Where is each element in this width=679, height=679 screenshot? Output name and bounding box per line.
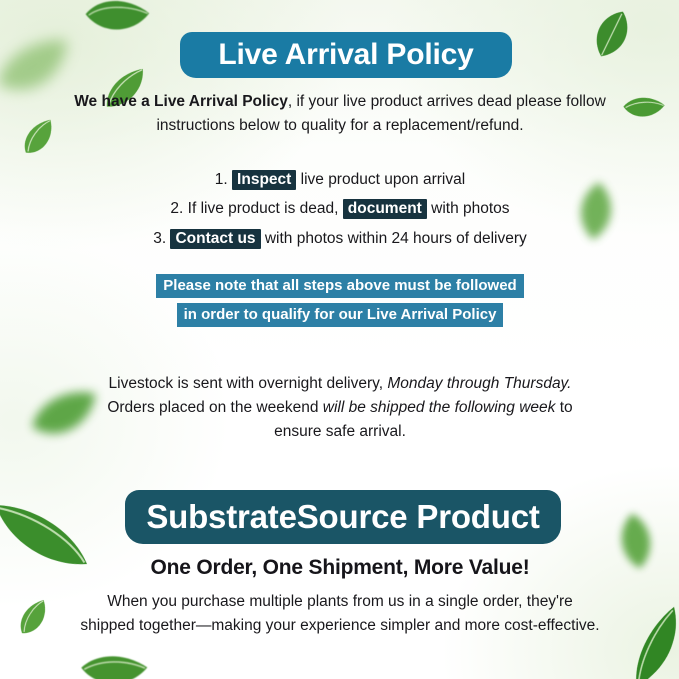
shipping-line1-plain: Livestock is sent with overnight deliver… (109, 375, 384, 392)
policy-steps-list: 1. Inspect live product upon arrival 2. … (70, 165, 610, 253)
leaf-icon (7, 591, 64, 647)
shipping-line1-italic: Monday through Thursday. (387, 375, 571, 392)
live-arrival-policy-banner: Live Arrival Policy (180, 32, 512, 78)
policy-note-block: Please note that all steps above must be… (70, 274, 610, 332)
step-before: If live product is dead, (188, 200, 339, 217)
leaf-icon (608, 509, 664, 573)
leaf-icon (0, 487, 91, 577)
step-number: 3. (153, 230, 166, 247)
list-item: 3. Contact us with photos within 24 hour… (70, 224, 610, 253)
live-arrival-policy-banner-label: Live Arrival Policy (218, 38, 473, 72)
step-highlight: Contact us (170, 229, 260, 249)
step-number: 1. (215, 171, 228, 188)
step-after: live product upon arrival (301, 171, 466, 188)
step-after: with photos (431, 200, 509, 217)
note-line: Please note that all steps above must be… (156, 274, 523, 298)
substratesource-product-banner: SubstrateSource Product (125, 490, 561, 544)
list-item: 2. If live product is dead, document wit… (70, 194, 610, 223)
substratesource-product-banner-label: SubstrateSource Product (146, 498, 539, 536)
shipping-schedule-paragraph: Livestock is sent with overnight deliver… (85, 372, 595, 444)
live-arrival-policy-infographic: Live Arrival Policy We have a Live Arriv… (0, 0, 679, 679)
intro-lead-bold: We have a Live Arrival Policy (74, 93, 288, 110)
intro-paragraph: We have a Live Arrival Policy, if your l… (70, 90, 610, 138)
shipping-line2-plain: Orders placed on the weekend (107, 399, 318, 416)
leaf-icon (11, 110, 69, 167)
leaf-icon (619, 87, 668, 130)
shipping-line2-italic: will be shipped the following week (323, 399, 556, 416)
step-after: with photos within 24 hours of delivery (265, 230, 527, 247)
value-headline: One Order, One Shipment, More Value! (80, 556, 600, 580)
leaf-icon (577, 0, 647, 69)
list-item: 1. Inspect live product upon arrival (70, 165, 610, 194)
note-line: in order to qualify for our Live Arrival… (177, 303, 504, 327)
step-number: 2. (170, 200, 183, 217)
step-highlight: document (343, 199, 427, 219)
step-highlight: Inspect (232, 170, 296, 190)
leaf-icon (78, 0, 154, 51)
leaf-icon (75, 640, 152, 679)
leaf-icon (607, 599, 679, 679)
value-body-paragraph: When you purchase multiple plants from u… (80, 590, 600, 638)
